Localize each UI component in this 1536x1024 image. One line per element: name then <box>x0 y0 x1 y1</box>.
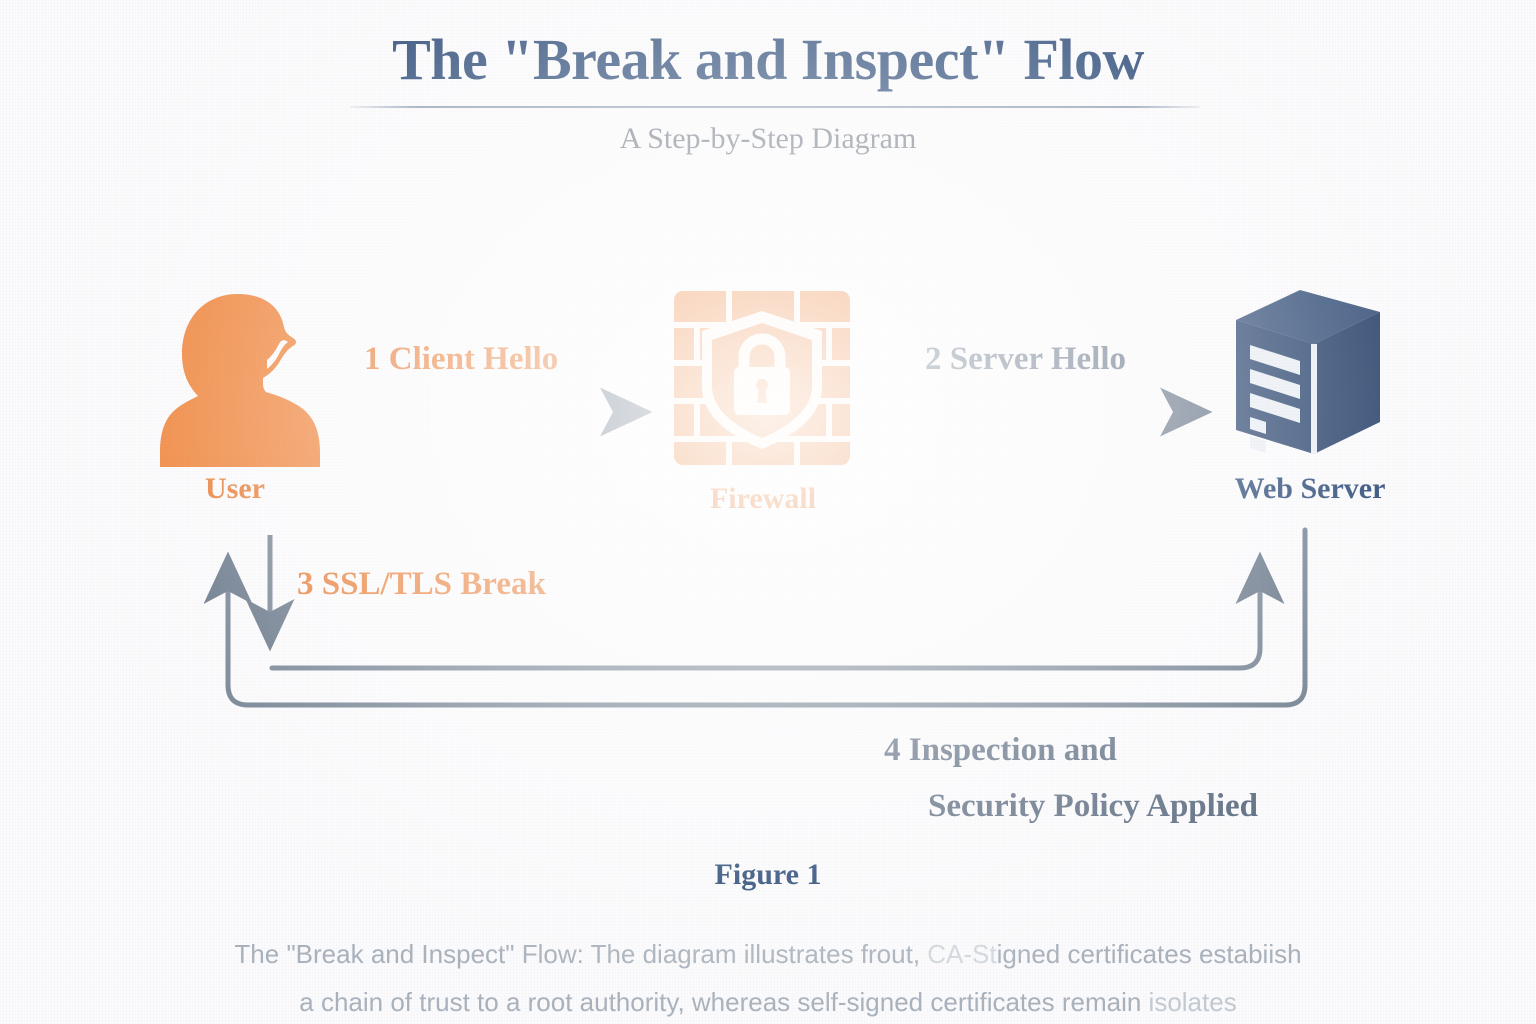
flow-connectors <box>0 0 1536 1024</box>
diagram-canvas: The "Break and Inspect" Flow A Step-by-S… <box>0 0 1536 1024</box>
inner-return-loop <box>272 558 1260 668</box>
outer-return-loop <box>228 530 1305 705</box>
